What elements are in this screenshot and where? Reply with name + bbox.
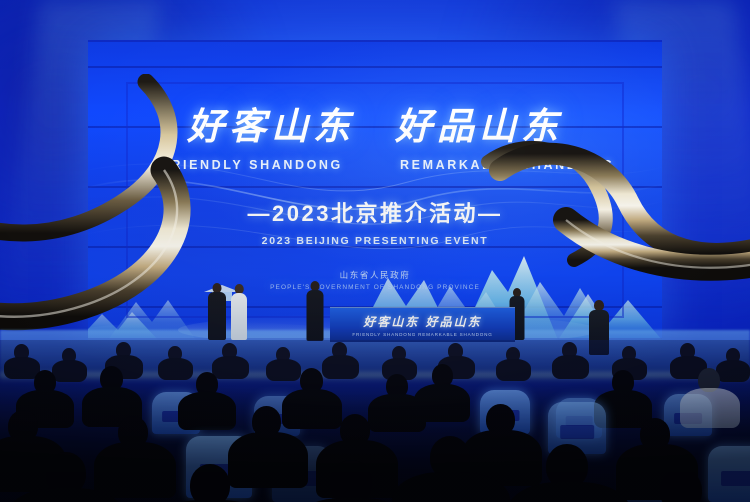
english-friendly-shandong: FRIENDLY SHANDONG [154, 158, 350, 172]
host-male-body [208, 292, 226, 340]
podium-banner: 好客山东 好品山东 FRIENDLY SHANDONG REMARKABLE S… [330, 307, 515, 342]
podium-banner-cn: 好客山东 好品山东 [363, 313, 481, 330]
speaker-body [307, 290, 324, 341]
led-screen: 好客山东 好品山东 FRIENDLY SHANDONG REMARKABLE S… [88, 40, 662, 340]
host-female-body [231, 293, 247, 340]
led-text-block: 好客山东 好品山东 FRIENDLY SHANDONG REMARKABLE S… [88, 108, 662, 291]
english-remarkable-shandong: REMARKABLE SHANDONG [400, 158, 596, 172]
organizer-en: PEOPLE'S GOVERNMENT OF SHANDONG PROVINCE [88, 284, 662, 291]
audience-vignette [0, 340, 750, 502]
calligraphy-remarkable-shandong: 好品山东 [395, 108, 563, 145]
calligraphy-row: 好客山东 好品山东 [88, 108, 662, 145]
event-stage-photo: 好客山东 好品山东 FRIENDLY SHANDONG REMARKABLE S… [0, 0, 750, 502]
event-title-cn: —2023北京推介活动— [88, 196, 662, 228]
host-female [229, 284, 249, 340]
event-title-en: 2023 BEIJING PRESENTING EVENT [88, 235, 662, 247]
speaker-at-podium [305, 281, 325, 341]
calligraphy-friendly-shandong: 好客山东 [187, 108, 355, 145]
organizer-cn: 山东省人民政府 [88, 269, 662, 281]
host-male [207, 283, 227, 340]
english-subtitle-row: FRIENDLY SHANDONG REMARKABLE SHANDONG [88, 158, 662, 172]
podium-banner-en: FRIENDLY SHANDONG REMARKABLE SHANDONG [352, 332, 492, 337]
audience-area [0, 340, 750, 502]
